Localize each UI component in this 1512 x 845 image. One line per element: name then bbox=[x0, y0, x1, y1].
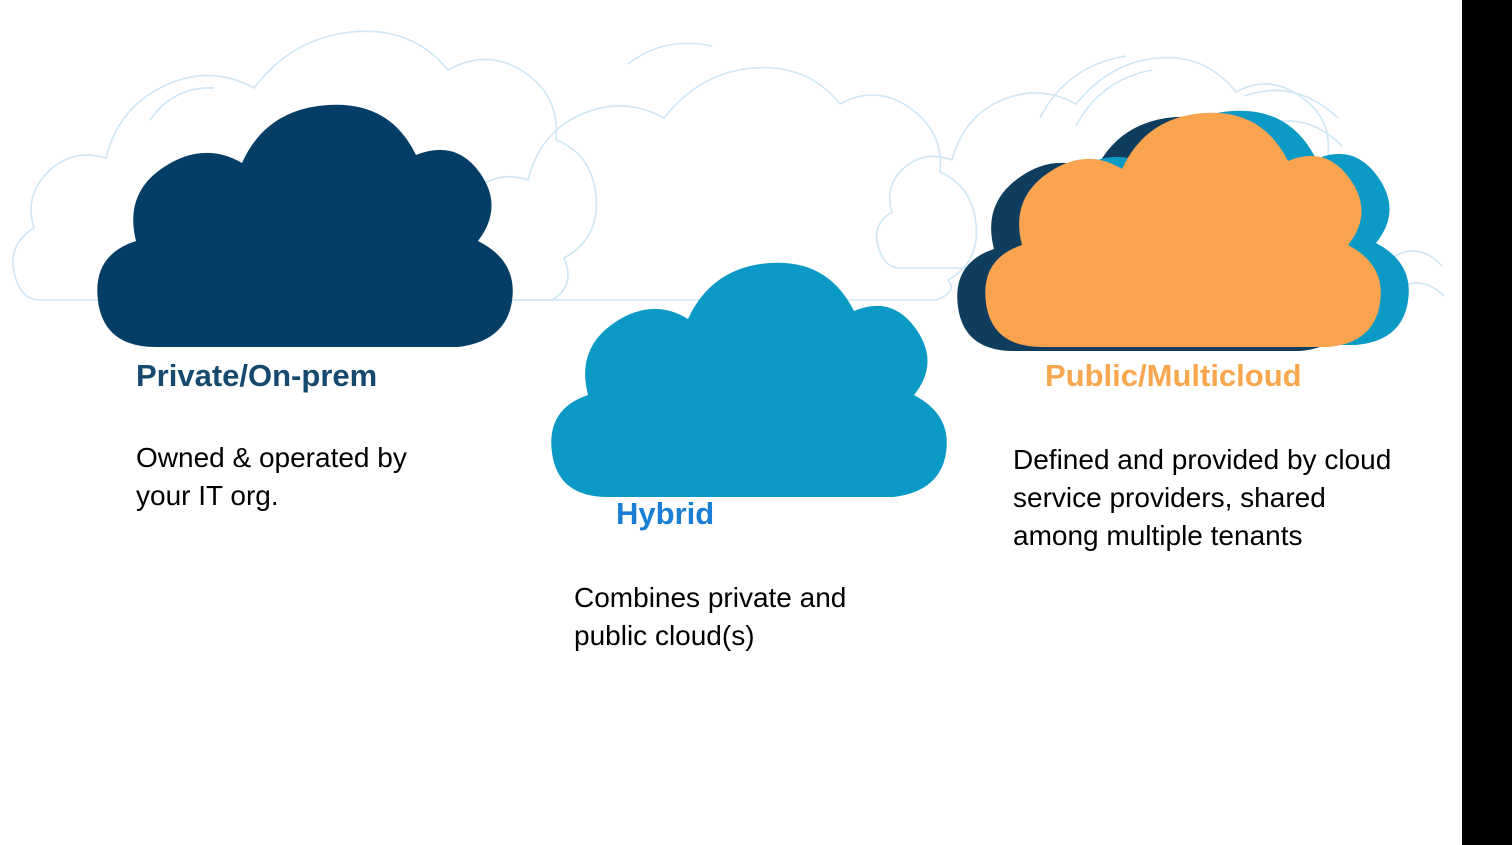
public-cloud-front-orange bbox=[985, 113, 1381, 347]
hybrid-cloud-graphic bbox=[520, 245, 970, 505]
public-desc-line-1: Defined and provided by cloud bbox=[1013, 441, 1462, 479]
slide-content-area: Private/On-prem Owned & operated by your… bbox=[0, 0, 1462, 845]
private-desc-line-2: your IT org. bbox=[136, 477, 556, 515]
public-cloud-stack bbox=[940, 95, 1440, 355]
public-cloud-label: Public/Multicloud bbox=[1045, 360, 1462, 393]
public-desc-line-3: among multiple tenants bbox=[1013, 517, 1462, 555]
public-multicloud-graphic bbox=[940, 95, 1440, 355]
hybrid-text-column: Hybrid Combines private and public cloud… bbox=[574, 498, 994, 655]
private-cloud-description: Owned & operated by your IT org. bbox=[136, 439, 556, 515]
private-cloud-label: Private/On-prem bbox=[136, 360, 556, 393]
private-text-column: Private/On-prem Owned & operated by your… bbox=[136, 360, 556, 515]
public-desc-line-2: service providers, shared bbox=[1013, 479, 1462, 517]
private-cloud-graphic bbox=[60, 95, 530, 355]
public-cloud-description: Defined and provided by cloud service pr… bbox=[1013, 441, 1462, 555]
private-desc-line-1: Owned & operated by bbox=[136, 439, 556, 477]
slide-canvas: Private/On-prem Owned & operated by your… bbox=[0, 0, 1512, 845]
hybrid-desc-line-1: Combines private and bbox=[574, 579, 994, 617]
private-cloud-shape bbox=[60, 95, 530, 355]
right-letterbox-band bbox=[1462, 0, 1512, 845]
hybrid-cloud-description: Combines private and public cloud(s) bbox=[574, 579, 994, 655]
public-text-column: Public/Multicloud Defined and provided b… bbox=[1013, 360, 1462, 555]
hybrid-cloud-label: Hybrid bbox=[616, 498, 994, 531]
hybrid-cloud-shape bbox=[520, 245, 970, 505]
hybrid-desc-line-2: public cloud(s) bbox=[574, 617, 994, 655]
